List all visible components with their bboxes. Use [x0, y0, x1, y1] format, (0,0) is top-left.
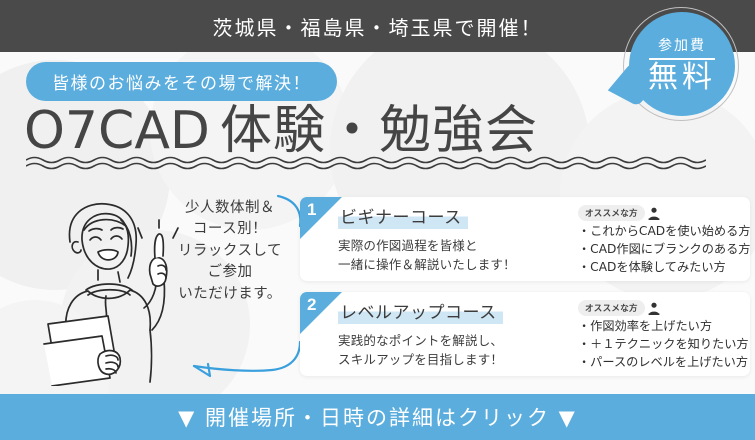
speech-text-block: 少人数体制＆ コース別！ リラックスして ご参加 いただけます。	[160, 198, 300, 305]
recommendation-item: ・CAD作図にブランクのある方	[578, 241, 746, 259]
recommendation-item: ・＋１テクニックを知りたい方	[578, 336, 746, 354]
person-icon	[648, 207, 660, 220]
course-number-label: 2	[307, 295, 316, 315]
promo-banner: 茨城県・福島県・埼玉県で開催！ 参加費 無料 皆様のお悩みをその場で解決！ O7…	[0, 0, 755, 440]
speech-line: 少人数体制＆	[160, 198, 300, 219]
recommendation-label: オススメな方	[578, 205, 645, 221]
speech-line: コース別！	[160, 219, 300, 240]
course-title: ビギナーコース	[338, 203, 468, 230]
course-recommendations: オススメな方 ・これからCADを使い始める方 ・CAD作図にブランクのある方 ・…	[578, 205, 746, 276]
page-title-jp: 体験・勉強会	[220, 101, 538, 161]
course-title: レベルアップコース	[338, 298, 503, 325]
recommendation-item: ・これからCADを使い始める方	[578, 223, 746, 241]
badge-fee-label: 参加費	[658, 35, 706, 55]
badge-free-label: 無料	[648, 63, 716, 93]
course-card-levelup[interactable]: 2 レベルアップコース 実践的なポイントを解説し、 スキルアップを目指します！ …	[300, 292, 750, 376]
course-info: レベルアップコース 実践的なポイントを解説し、 スキルアップを目指します！	[338, 298, 570, 370]
course-desc-line: 実際の作図過程を皆様と	[338, 236, 570, 255]
person-icon	[648, 302, 660, 315]
cta-label: ▼ 開催場所・日時の詳細はクリック ▼	[178, 402, 577, 432]
recommendation-item: ・作図効率を上げたい方	[578, 318, 746, 336]
course-desc-line: スキルアップを目指します！	[338, 350, 570, 369]
course-number-badge: 1	[300, 197, 344, 241]
free-badge: 参加費 無料	[621, 12, 741, 120]
recommendation-header: オススメな方	[578, 300, 746, 316]
recommendation-item: ・CADを体験してみたい方	[578, 259, 746, 277]
speech-line: いただけます。	[160, 284, 300, 305]
course-desc-line: 一緒に操作＆解説いたします！	[338, 255, 570, 274]
page-title-en: O7CAD	[24, 101, 210, 161]
badge-bubble: 参加費 無料	[629, 12, 735, 116]
cta-bar[interactable]: ▼ 開催場所・日時の詳細はクリック ▼	[0, 394, 755, 440]
recommendation-header: オススメな方	[578, 205, 746, 221]
course-desc-line: 実践的なポイントを解説し、	[338, 331, 570, 350]
top-location-text: 茨城県・福島県・埼玉県で開催！	[213, 12, 543, 41]
speech-line: ご参加	[160, 262, 300, 283]
tagline-pill: 皆様のお悩みをその場で解決！	[26, 62, 337, 101]
course-number-badge: 2	[300, 292, 344, 336]
recommendation-item: ・パースのレベルを上げたい方	[578, 354, 746, 372]
course-card-beginner[interactable]: 1 ビギナーコース 実際の作図過程を皆様と 一緒に操作＆解説いたします！ オスス…	[300, 197, 750, 281]
course-recommendations: オススメな方 ・作図効率を上げたい方 ・＋１テクニックを知りたい方 ・パースのレ…	[578, 300, 746, 371]
course-number-label: 1	[307, 200, 316, 220]
recommendation-label: オススメな方	[578, 300, 645, 316]
course-info: ビギナーコース 実際の作図過程を皆様と 一緒に操作＆解説いたします！	[338, 203, 570, 275]
speech-line: リラックスして	[160, 241, 300, 262]
